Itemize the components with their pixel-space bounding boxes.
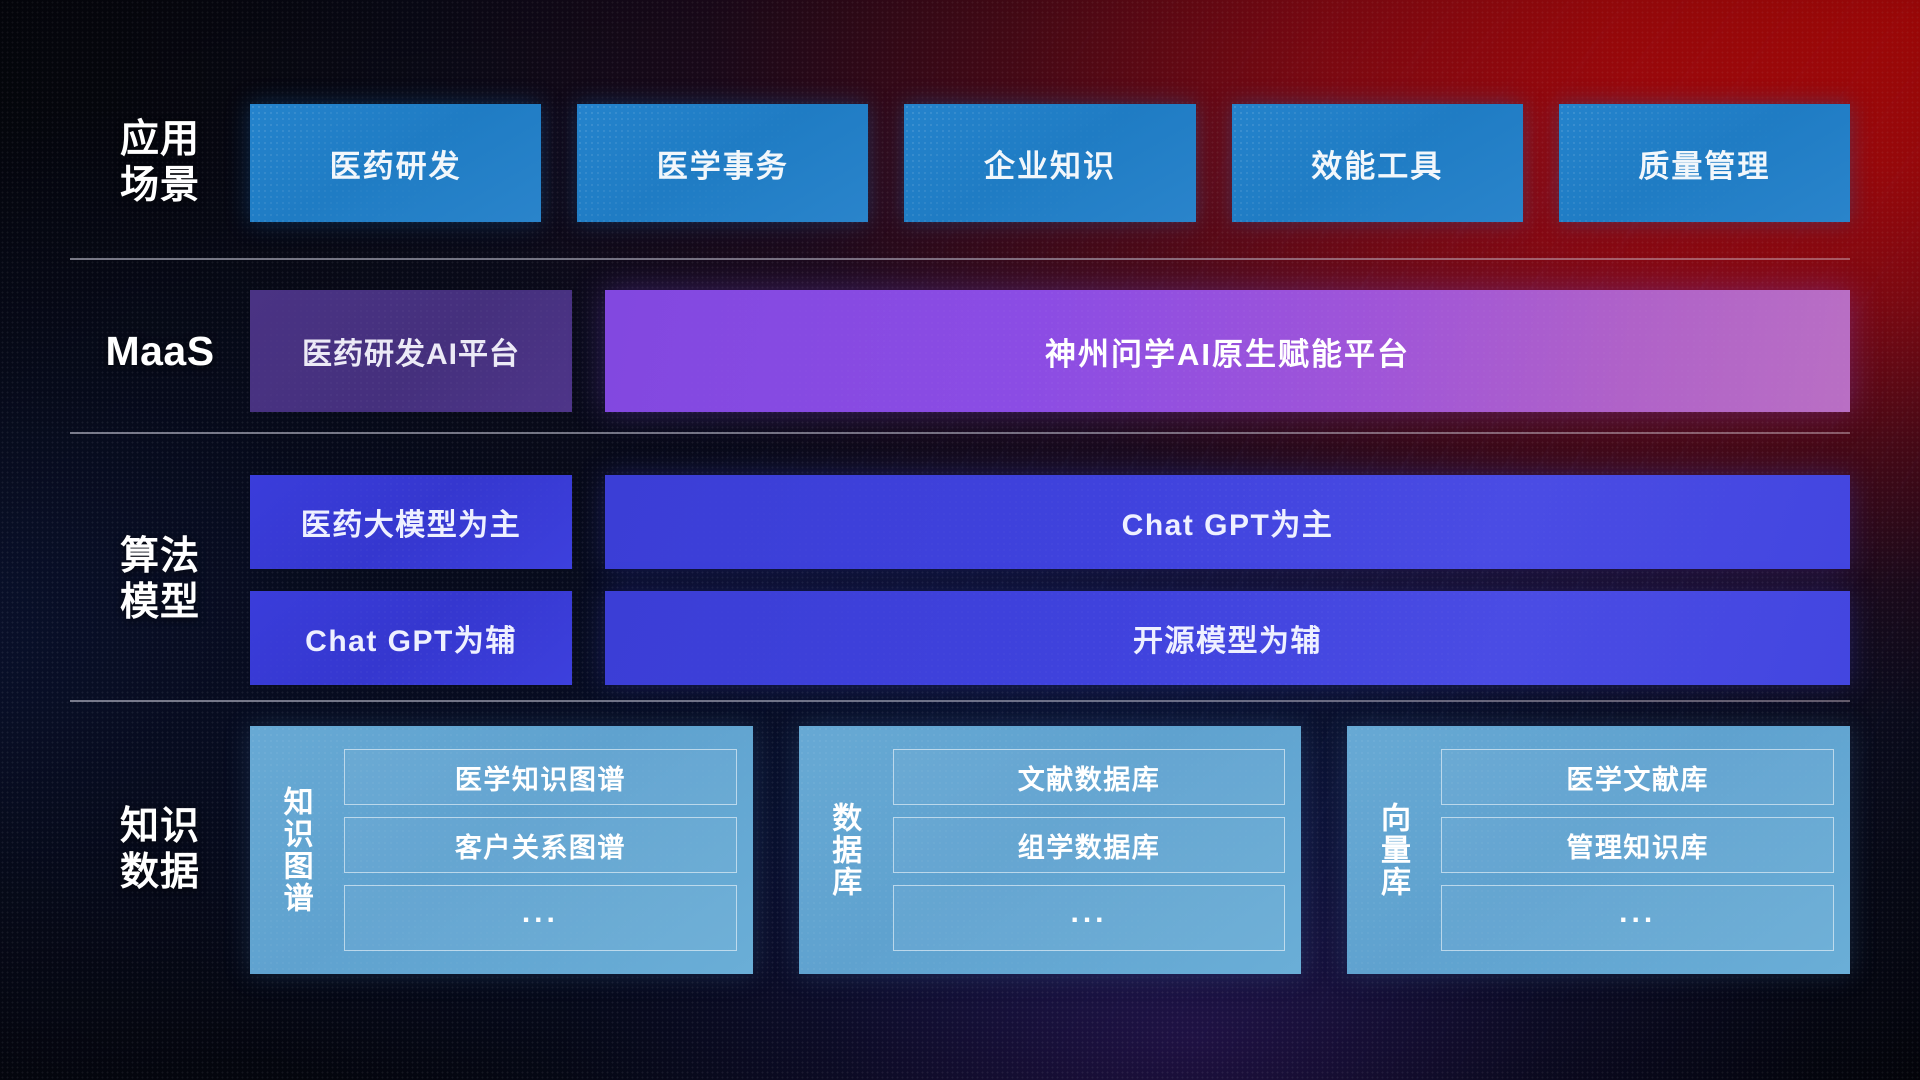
knowledge-group-label-vector-store: 向量库 — [1355, 802, 1429, 898]
knowledge-item-list: 医学知识图谱 客户关系图谱 ... — [332, 749, 737, 951]
knowledge-group-label-knowledge-graph: 知识图谱 — [258, 786, 332, 914]
row-label-line-2: 数据 — [70, 850, 250, 896]
row-label-line-1: 应用 — [70, 117, 250, 163]
row-label-application-scenarios: 应用 场景 — [70, 117, 250, 209]
knowledge-item-medical-knowledge-graph[interactable]: 医学知识图谱 — [344, 749, 737, 805]
row-body-application-scenarios: 医药研发 医学事务 企业知识 效能工具 质量管理 — [250, 104, 1850, 222]
knowledge-item-more[interactable]: ... — [893, 885, 1286, 951]
maas-card-pharma-ai-platform[interactable]: 医药研发AI平台 — [250, 290, 572, 412]
algorithm-card-opensource-secondary[interactable]: 开源模型为辅 — [605, 591, 1850, 685]
row-body-knowledge-data: 知识图谱 医学知识图谱 客户关系图谱 ... 数据库 文献数据库 组学数据库 .… — [250, 726, 1850, 974]
algorithm-line-secondary: Chat GPT为辅 开源模型为辅 — [250, 591, 1850, 685]
scenario-card-grid: 医药研发 医学事务 企业知识 效能工具 质量管理 — [250, 104, 1850, 222]
knowledge-item-list: 医学文献库 管理知识库 ... — [1429, 749, 1834, 951]
knowledge-group-database: 数据库 文献数据库 组学数据库 ... — [799, 726, 1302, 974]
algorithm-card-stack: 医药大模型为主 Chat GPT为主 Chat GPT为辅 开源模型为辅 — [250, 475, 1850, 685]
row-body-algorithm-models: 医药大模型为主 Chat GPT为主 Chat GPT为辅 开源模型为辅 — [250, 475, 1850, 685]
knowledge-item-medical-literature-store[interactable]: 医学文献库 — [1441, 749, 1834, 805]
row-algorithm-models: 算法 模型 医药大模型为主 Chat GPT为主 Chat GPT为辅 开源模型… — [70, 460, 1850, 700]
knowledge-item-omics-database[interactable]: 组学数据库 — [893, 817, 1286, 873]
algorithm-card-chatgpt-primary[interactable]: Chat GPT为主 — [605, 475, 1850, 569]
row-label-line-2: 模型 — [70, 580, 250, 626]
knowledge-item-customer-relation-graph[interactable]: 客户关系图谱 — [344, 817, 737, 873]
row-label-knowledge-data: 知识 数据 — [70, 804, 250, 896]
row-maas: MaaS 医药研发AI平台 神州问学AI原生赋能平台 — [70, 290, 1850, 412]
row-label-maas: MaaS — [70, 327, 250, 375]
knowledge-group-vector-store: 向量库 医学文献库 管理知识库 ... — [1347, 726, 1850, 974]
scenario-card-pharma-rd[interactable]: 医药研发 — [250, 104, 541, 222]
knowledge-item-more[interactable]: ... — [344, 885, 737, 951]
maas-card-shenzhou-wenxue-platform[interactable]: 神州问学AI原生赋能平台 — [605, 290, 1850, 412]
row-application-scenarios: 应用 场景 医药研发 医学事务 企业知识 效能工具 质量管理 — [70, 104, 1850, 222]
knowledge-group-label-database: 数据库 — [807, 802, 881, 898]
divider-maas-algorithm — [70, 432, 1850, 434]
divider-algorithm-knowledge — [70, 700, 1850, 702]
knowledge-item-literature-database[interactable]: 文献数据库 — [893, 749, 1286, 805]
knowledge-item-list: 文献数据库 组学数据库 ... — [881, 749, 1286, 951]
row-label-line-1: 知识 — [70, 804, 250, 850]
row-knowledge-data: 知识 数据 知识图谱 医学知识图谱 客户关系图谱 ... 数据库 — [70, 726, 1850, 974]
architecture-diagram: 应用 场景 医药研发 医学事务 企业知识 效能工具 质量管理 MaaS 医药研发… — [0, 0, 1920, 1080]
algorithm-line-primary: 医药大模型为主 Chat GPT为主 — [250, 475, 1850, 569]
algorithm-card-chatgpt-secondary[interactable]: Chat GPT为辅 — [250, 591, 572, 685]
scenario-card-efficiency-tools[interactable]: 效能工具 — [1232, 104, 1523, 222]
row-label-algorithm-models: 算法 模型 — [70, 534, 250, 626]
row-body-maas: 医药研发AI平台 神州问学AI原生赋能平台 — [250, 290, 1850, 412]
knowledge-item-more[interactable]: ... — [1441, 885, 1834, 951]
row-label-line-2: 场景 — [70, 163, 250, 209]
knowledge-group-knowledge-graph: 知识图谱 医学知识图谱 客户关系图谱 ... — [250, 726, 753, 974]
scenario-card-quality-management[interactable]: 质量管理 — [1559, 104, 1850, 222]
scenario-card-enterprise-knowledge[interactable]: 企业知识 — [904, 104, 1195, 222]
row-label-line-1: 算法 — [70, 534, 250, 580]
diagram-content: 应用 场景 医药研发 医学事务 企业知识 效能工具 质量管理 MaaS 医药研发… — [0, 0, 1920, 1080]
scenario-card-medical-affairs[interactable]: 医学事务 — [577, 104, 868, 222]
knowledge-item-management-knowledge-store[interactable]: 管理知识库 — [1441, 817, 1834, 873]
knowledge-group-grid: 知识图谱 医学知识图谱 客户关系图谱 ... 数据库 文献数据库 组学数据库 .… — [250, 726, 1850, 974]
divider-scenarios-maas — [70, 258, 1850, 260]
algorithm-card-pharma-llm-primary[interactable]: 医药大模型为主 — [250, 475, 572, 569]
